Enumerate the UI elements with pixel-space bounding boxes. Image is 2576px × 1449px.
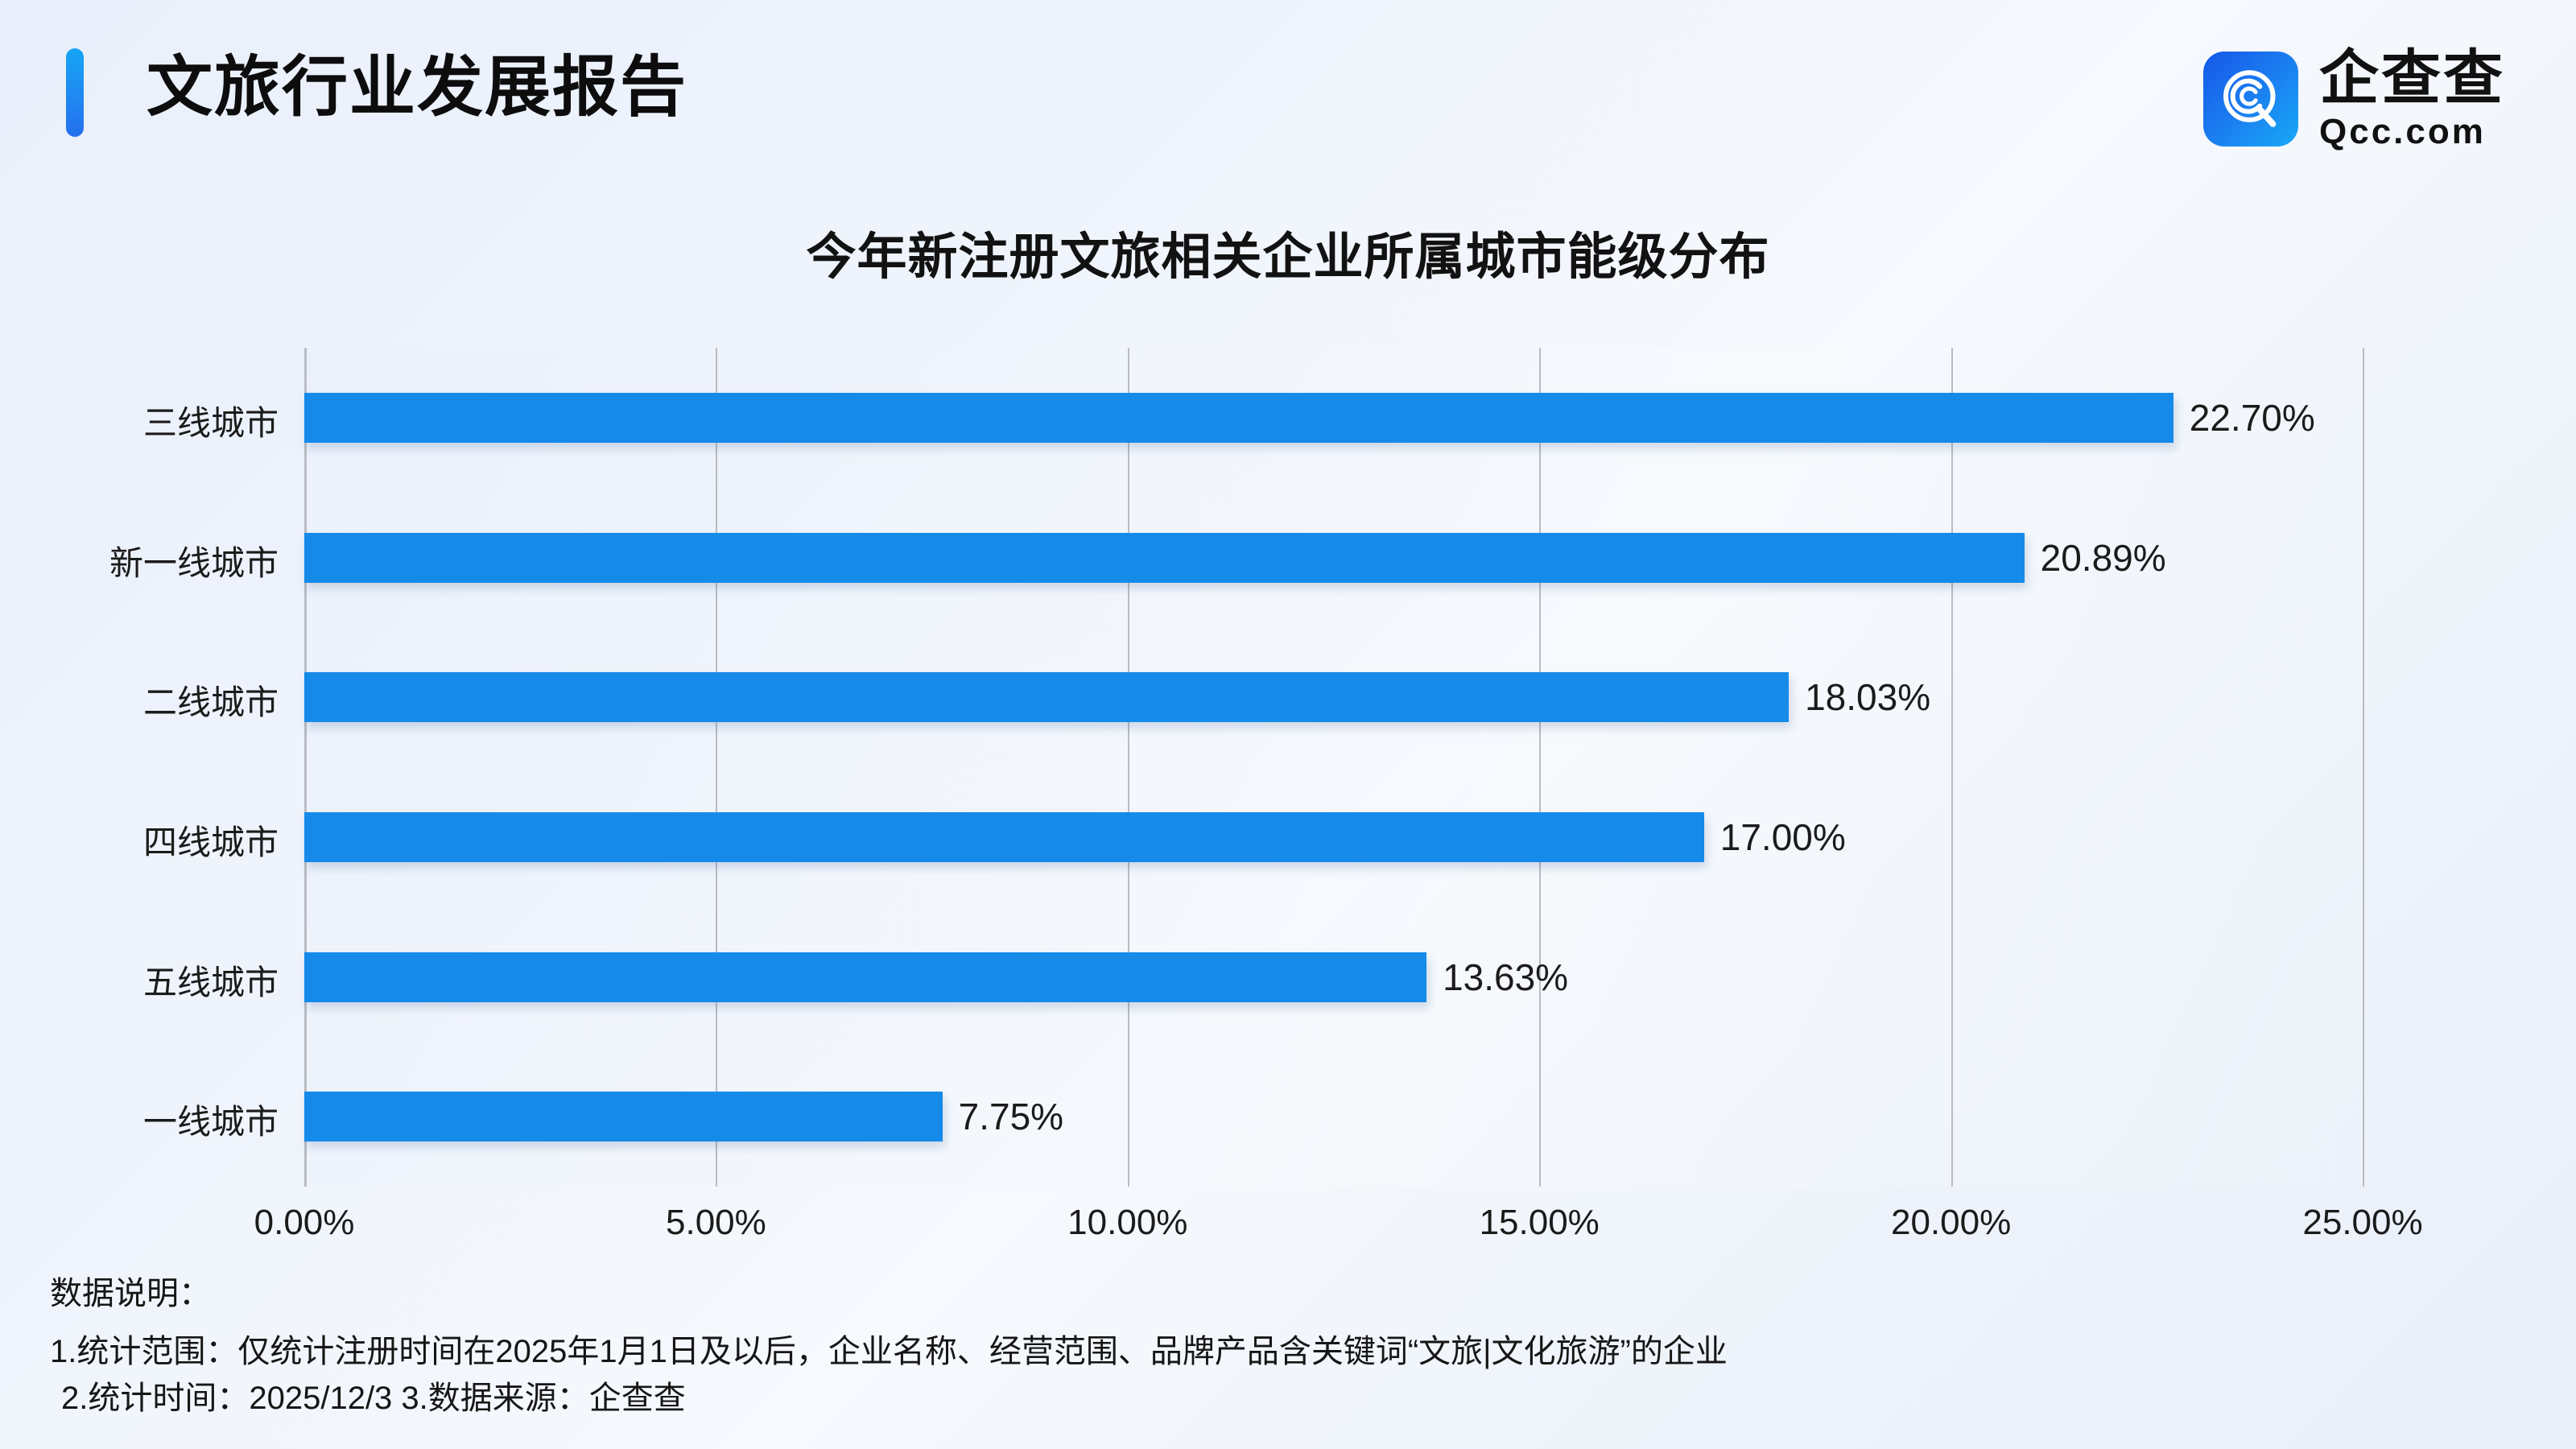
bar-value-label: 13.63% — [1443, 956, 1568, 999]
brand-name-cn: 企查查 — [2319, 48, 2505, 108]
bar[interactable] — [304, 812, 1704, 862]
x-axis-tick-label: 25.00% — [2302, 1203, 2422, 1243]
bar-row[interactable]: 20.89% — [304, 533, 2363, 583]
bar[interactable] — [304, 672, 1789, 722]
x-axis-tick-label: 20.00% — [1891, 1203, 2011, 1243]
y-axis-label: 新一线城市 — [109, 536, 279, 585]
x-axis-tick-label: 15.00% — [1480, 1203, 1600, 1243]
brand-wordmark: 企查查 Qcc.com — [2319, 48, 2505, 150]
x-axis-tick-label: 0.00% — [254, 1203, 355, 1243]
notes-heading: 数据说明： — [50, 1270, 2505, 1317]
bar[interactable] — [304, 1092, 943, 1141]
gridline — [2363, 348, 2364, 1187]
bar-value-label: 17.00% — [1720, 815, 1846, 859]
report-page: 文旅行业发展报告 企查查 Qcc.com 今年新注册文旅相关企业所属城市能级分布… — [0, 0, 2576, 1449]
bar-row[interactable]: 18.03% — [304, 672, 2363, 722]
bar[interactable] — [304, 533, 2025, 583]
brand-name-en: Qcc.com — [2319, 114, 2505, 150]
data-notes: 数据说明： 1.统计范围：仅统计注册时间在2025年1月1日及以后，企业名称、经… — [50, 1270, 2505, 1422]
bar-value-label: 7.75% — [959, 1095, 1063, 1138]
y-axis-label: 一线城市 — [143, 1095, 279, 1144]
y-axis-label: 二线城市 — [143, 675, 279, 724]
bar-value-label: 20.89% — [2041, 536, 2166, 580]
bar-value-label: 18.03% — [1805, 675, 1930, 719]
bar-value-label: 22.70% — [2190, 396, 2315, 440]
title-accent-bar — [66, 48, 84, 137]
notes-line-1: 1.统计范围：仅统计注册时间在2025年1月1日及以后，企业名称、经营范围、品牌… — [50, 1328, 2505, 1375]
bar-row[interactable]: 7.75% — [304, 1092, 2363, 1141]
bar-rows: 22.70%20.89%18.03%17.00%13.63%7.75% — [304, 348, 2363, 1187]
y-axis-label: 三线城市 — [143, 396, 279, 445]
chart-title: 今年新注册文旅相关企业所属城市能级分布 — [0, 216, 2576, 288]
bar-row[interactable]: 13.63% — [304, 952, 2363, 1002]
qcc-logo-icon — [2203, 52, 2298, 147]
bar[interactable] — [304, 952, 1426, 1002]
brand-logo: 企查查 Qcc.com — [2203, 48, 2505, 150]
bar[interactable] — [304, 393, 2173, 443]
bar-row[interactable]: 22.70% — [304, 393, 2363, 443]
chart-plot-area: 22.70%20.89%18.03%17.00%13.63%7.75% — [304, 348, 2363, 1187]
notes-line-2: 2.统计时间：2025/12/3 3.数据来源：企查查 — [50, 1375, 2505, 1422]
report-header: 文旅行业发展报告 企查查 Qcc.com — [0, 0, 2576, 185]
y-axis-label: 四线城市 — [143, 815, 279, 865]
x-axis-tick-label: 5.00% — [666, 1203, 766, 1243]
page-title: 文旅行业发展报告 — [147, 40, 687, 135]
bar-row[interactable]: 17.00% — [304, 812, 2363, 862]
x-axis-tick-label: 10.00% — [1067, 1203, 1187, 1243]
y-axis-label: 五线城市 — [143, 956, 279, 1005]
